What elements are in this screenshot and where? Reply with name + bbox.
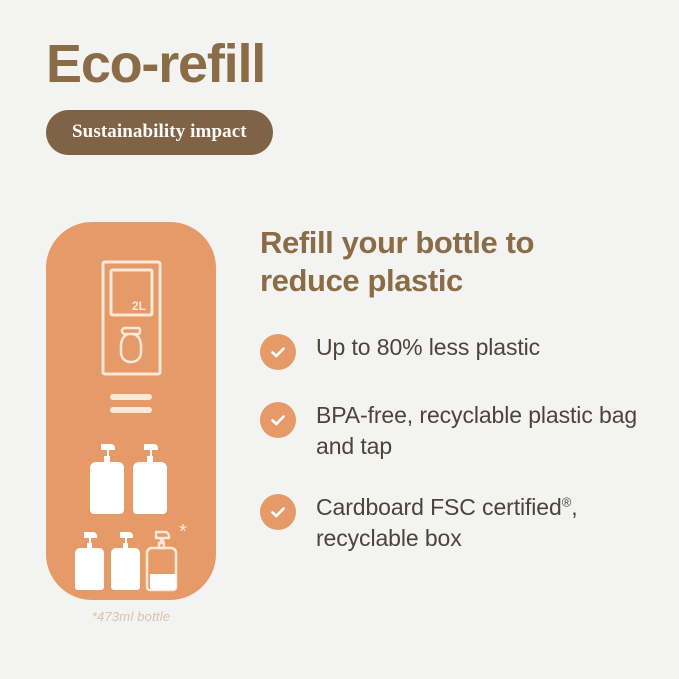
feature-label: Up to 80% less plastic [316,332,540,363]
eco-refill-infographic: Eco-refill Sustainability impact 2L [0,0,679,679]
pump-bottle [111,532,140,590]
feature-list: Up to 80% less plastic BPA-free, recycla… [260,332,660,554]
illustration-card: 2L [46,222,216,600]
feature-label-main: Cardboard FSC certified [316,494,562,520]
bottle-row-top [90,444,167,514]
refill-box-icon: 2L [103,262,160,374]
outlined-bottle [147,532,176,590]
page-title: Eco-refill [46,34,606,94]
refill-illustration-svg: 2L [46,222,216,600]
feature-label: BPA-free, recyclable plastic bag and tap [316,400,646,462]
asterisk-marker: * [179,521,187,543]
status-badge: Sustainability impact [46,110,273,155]
pump-bottle [90,444,124,514]
bottle-row-bottom: * [75,521,187,590]
check-circle-icon [260,494,296,530]
check-circle-icon [260,334,296,370]
pump-bottle [75,532,104,590]
pump-bottle [133,444,167,514]
equals-icon [110,394,152,413]
box-volume-label: 2L [132,299,146,313]
content-panel: Refill your bottle to reduce plastic Up … [260,224,660,584]
list-item: Cardboard FSC certified®, recyclable box [260,492,660,554]
header: Eco-refill Sustainability impact [46,34,606,155]
section-heading: Refill your bottle to reduce plastic [260,224,600,300]
registered-mark: ® [562,494,571,509]
feature-label: Cardboard FSC certified®, recyclable box [316,492,646,554]
footnote-text: *473ml bottle [46,609,216,624]
tap-icon [121,328,141,362]
illustration-panel: 2L [46,222,216,624]
list-item: Up to 80% less plastic [260,332,660,370]
list-item: BPA-free, recyclable plastic bag and tap [260,400,660,462]
check-circle-icon [260,402,296,438]
